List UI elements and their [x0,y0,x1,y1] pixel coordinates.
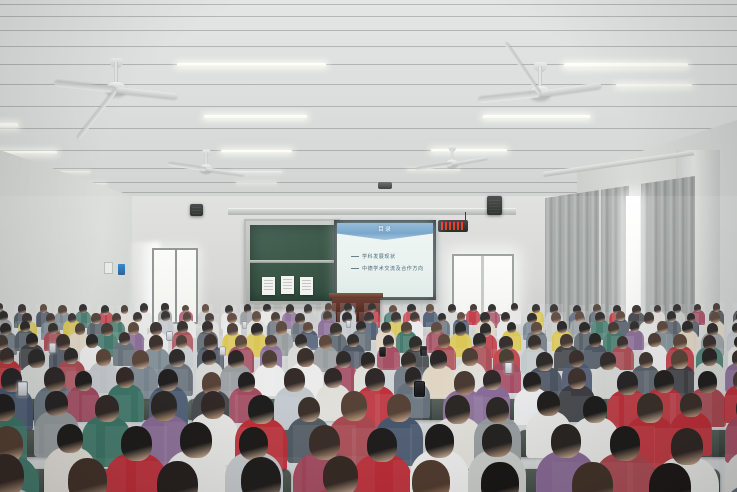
audience-head [330,323,341,336]
fluorescent-light-panel [0,123,18,127]
audience-head [265,335,276,348]
audience-head [412,460,450,492]
notice-sheet [281,276,294,294]
cable-trunking [228,208,516,215]
audience-member [463,462,537,492]
audience-head [204,334,217,349]
audience-head [0,348,14,364]
audience-head [733,370,737,390]
audience-head [680,393,701,417]
audience-head [158,369,178,391]
lectern-top [329,293,383,298]
audience-head [227,313,236,324]
audience-head [26,333,38,347]
raised-smartphone [414,381,425,397]
audience-head [298,397,320,422]
audience-head [438,334,450,348]
slide-bullet: 中德学术交流及合作方向 [351,265,425,272]
audience-head [46,313,55,323]
audience-head [177,321,188,333]
audience-head [480,312,490,323]
audience-head [595,312,605,323]
audience-head [284,368,305,392]
audience-head [617,336,629,349]
audience-head [560,334,573,348]
slide-bullet-text: 学科发展现状 [362,254,396,260]
fluorescent-light-panel [177,63,326,68]
audience-head [356,321,366,332]
audience-member [393,460,469,492]
audience-head [649,463,691,492]
audience-head [323,456,358,492]
audience-member [220,457,302,492]
audience-head [713,303,720,311]
audience-head [455,322,467,335]
audience-head [241,457,282,492]
audience-head [48,323,58,334]
fluorescent-light-panel [204,115,307,119]
audience-head [161,311,170,321]
audience-head [657,321,668,333]
seated-audience [0,300,737,492]
audience-head [28,349,44,368]
audience-head [64,348,78,364]
audience-head [511,303,518,311]
audience-head [201,391,226,419]
audience-head [648,333,661,348]
audience-member [0,454,43,492]
wall-speaker-right [487,196,502,215]
audience-head [68,458,107,492]
audience-head [445,395,471,424]
audience-head [438,313,446,322]
audience-torso [722,484,737,492]
audience-head [589,333,601,347]
audience-member [722,454,737,492]
slide-title: 目录 [337,224,433,233]
antenna-icon [465,212,466,221]
audience-head [454,371,475,395]
audience-head [121,426,152,461]
audience-head [303,322,313,333]
raised-smartphone [504,362,512,374]
audience-head [671,428,703,465]
audience-head [116,367,135,388]
fluorescent-light-panel [564,63,688,68]
audience-head [551,424,581,458]
audience-head [248,395,274,424]
audience-head [431,322,442,334]
audience-head [228,350,244,369]
raised-smartphone [379,348,386,357]
audience-head [673,334,687,350]
slide-body: 学科发展现状 中德学术交流及合作方向 [351,253,425,277]
audience-head [523,372,541,392]
audience-member [48,458,126,492]
audience-head [112,313,121,323]
slide-bullet-text: 中德学术交流及合作方向 [362,266,424,272]
notice-sheet [300,277,313,295]
blue-wall-sign [118,264,125,275]
audience-head [654,370,674,393]
audience-head [295,334,307,348]
audience-head [575,311,584,322]
audience-head [323,311,332,321]
audience-head [235,335,248,350]
audience-head [682,321,692,333]
projected-slide: 目录 学科发展现状 中德学术交流及合作方向 [337,223,433,297]
audience-head [169,349,185,367]
audience-head [150,322,162,335]
audience-head [732,350,737,366]
audience-head [157,461,198,492]
audience-head [486,397,509,424]
lecture-hall-photo: 目录 学科发展现状 中德学术交流及合作方向 [0,0,737,492]
audience-head [95,395,119,423]
audience-head [557,321,567,332]
audience-member [306,456,376,492]
fluorescent-light-panel [483,115,591,119]
audience-head [702,348,718,366]
audience-head [238,372,255,392]
fan-downrod [114,62,118,84]
audience-member [136,461,218,492]
audience-head [387,394,411,422]
audience-head [239,427,268,460]
audience-head [430,350,447,369]
audience-head [507,322,517,333]
audience-head [45,391,67,416]
wall-speaker-left [190,204,203,216]
audience-head [482,424,511,457]
slide-bullet: 学科发展现状 [351,253,425,260]
audience-head [276,321,288,334]
audience-head [202,350,216,365]
audience-head [425,424,454,457]
audience-head [637,393,663,423]
fluorescent-light-panel [407,169,459,171]
audience-head [119,332,130,345]
audience-head [44,367,65,391]
audience-head [617,371,638,395]
audience-head [481,462,518,492]
audience-head [568,368,586,389]
bullet-dash-icon [351,268,359,269]
audience-head [365,368,385,391]
fan-downrod [538,66,542,88]
audience-head [309,425,340,461]
audience-head [381,322,391,333]
audience-head [616,311,624,321]
audience-head [457,312,465,321]
audience-head [271,312,280,322]
audience-head [344,303,352,312]
fluorescent-light-panel [616,84,692,87]
audience-head [0,323,11,335]
audience-head [732,323,737,334]
audience-head [470,304,477,312]
audience-head [401,352,416,369]
audience-member [552,462,633,492]
audience-head [361,352,375,368]
audience-head [410,312,419,323]
audience-head [600,352,616,370]
audience-head [610,426,640,461]
audience-head [0,454,24,492]
audience-head [569,350,584,367]
light-switch-panel[interactable] [104,262,113,274]
audience-head [133,312,142,322]
audience-head [40,304,48,313]
chalkboard-slide-rail [250,260,334,263]
audience-head [473,333,486,348]
audience-head [202,321,213,333]
green-chalkboard [244,219,340,307]
audience-head [528,335,541,350]
audience-head [483,370,501,390]
audience-head [151,391,177,421]
audience-head [297,348,314,367]
audience-head [86,334,98,348]
audience-head [75,371,92,391]
audience-head [324,368,342,388]
audience-head [176,335,187,348]
bullet-dash-icon [351,256,359,257]
audience-head [710,312,720,323]
audience-head [639,352,654,369]
audience-head [572,462,613,492]
audience-head [75,323,85,335]
notice-sheet [262,277,275,295]
audience-head [536,352,553,371]
projection-screen: 目录 学科发展现状 中德学术交流及合作方向 [334,220,436,300]
audience-head [252,311,262,322]
fluorescent-light-panel [236,182,277,184]
ceiling-projector [378,182,392,189]
audience-head [462,348,478,366]
audience-head [368,303,376,312]
audience-head [180,422,212,458]
audience-head [96,349,111,366]
audience-head [68,313,77,323]
raised-smartphone [48,343,55,354]
fluorescent-light-panel [431,149,507,152]
audience-head [202,304,209,312]
wireless-led-clock [438,220,468,232]
audience-head [347,334,359,348]
audience-head [57,424,83,454]
audience-head [336,351,351,368]
chalkboard-surface [250,225,334,301]
audience-head [0,311,8,321]
audience-head [531,322,541,334]
audience-head [401,322,411,334]
audience-head [426,304,434,313]
audience-head [671,350,687,369]
audience-head [583,396,607,423]
audience-head [341,391,367,421]
audience-head [262,350,278,368]
audience-head [537,391,560,417]
audience-head [698,371,717,392]
raised-smartphone [17,382,28,397]
audience-head [20,321,30,332]
audience-member [627,463,712,492]
audience-head [630,321,640,332]
audience-head [0,335,8,350]
audience-head [304,304,312,313]
fluorescent-light-panel [221,150,292,153]
led-digits [441,222,465,230]
